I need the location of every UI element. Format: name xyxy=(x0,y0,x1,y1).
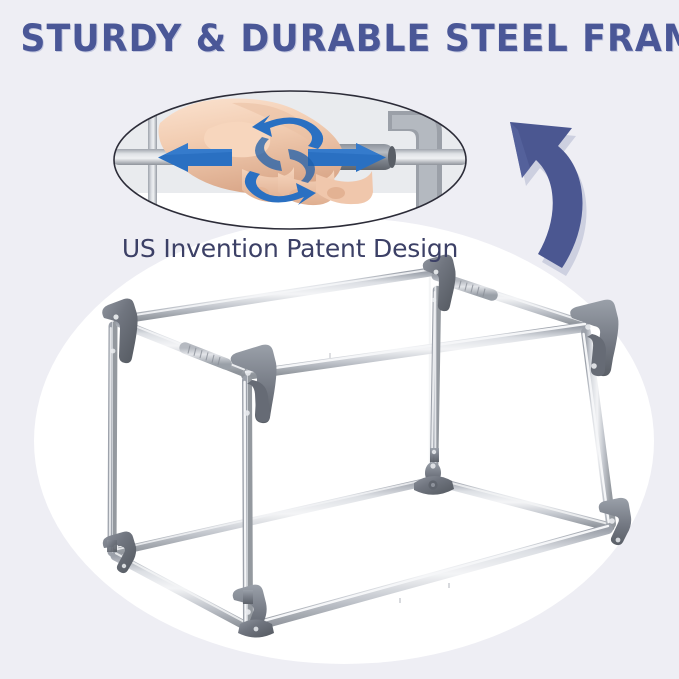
rail-bottom-rear xyxy=(116,479,430,552)
telescoping-tube-adjustment-photo xyxy=(112,89,468,231)
post-sleeve-rear-left-lower xyxy=(107,540,117,552)
post-rear-left xyxy=(110,326,113,552)
rail-bottom-left-depth xyxy=(115,553,247,626)
rail-top-front xyxy=(246,324,585,375)
infographic-canvas: STURDY & DURABLE STEEL FRAME US Inventio… xyxy=(0,0,679,679)
post-center-rear xyxy=(432,290,437,474)
adjustable-sleeve-top-rear-rail xyxy=(450,279,492,297)
patent-caption: US Invention Patent Design xyxy=(0,234,580,263)
foot-connector-front-left xyxy=(233,585,274,638)
center-t-junction-front-bottom xyxy=(414,462,454,495)
post-sleeve-center-upper xyxy=(430,448,439,462)
rail-bottom-front xyxy=(252,526,608,627)
rail-bottom-right-depth xyxy=(434,478,610,527)
corner-bracket-rear-left-top xyxy=(102,299,137,364)
page-title: STURDY & DURABLE STEEL FRAME xyxy=(20,18,658,60)
corner-bracket-front-right-top xyxy=(570,300,618,377)
oval-photo-content xyxy=(112,89,468,231)
post-sleeve-front-left-lower xyxy=(243,590,253,604)
corner-bracket-front-left-top xyxy=(231,345,277,424)
adjustable-sleeve-top-left-rail xyxy=(185,346,226,366)
rail-top-rear xyxy=(118,270,430,320)
